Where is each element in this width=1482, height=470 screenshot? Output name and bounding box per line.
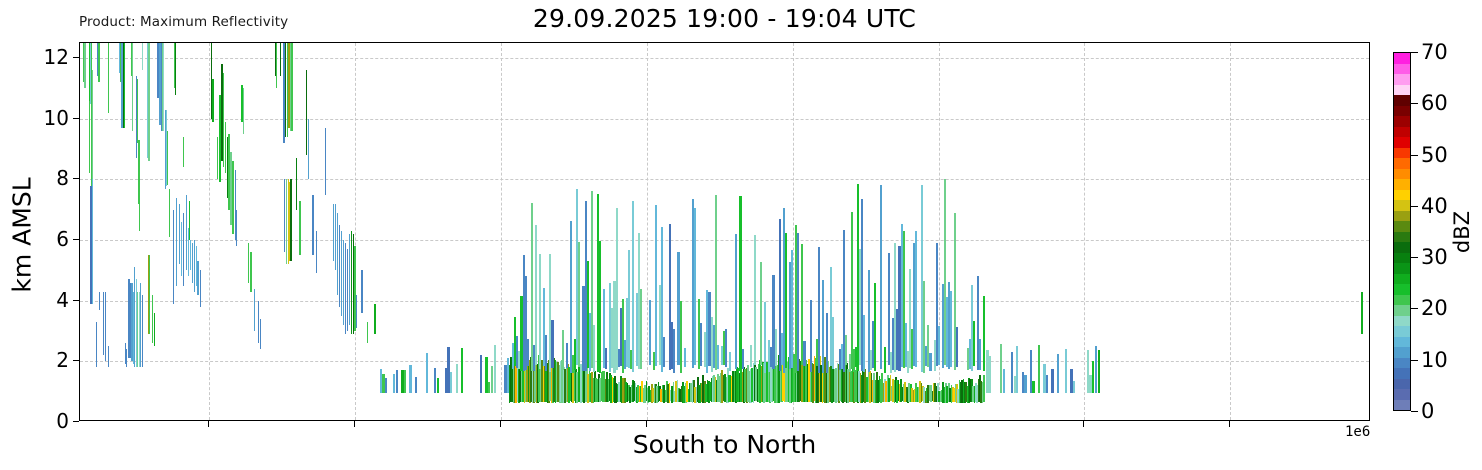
reflectivity-column: [217, 137, 218, 179]
reflectivity-column: [1065, 349, 1067, 393]
colorbar-tick-label: 50: [1421, 143, 1448, 167]
reflectivity-column: [450, 372, 452, 393]
reflectivity-column: [183, 137, 184, 167]
reflectivity-column: [108, 346, 109, 367]
x-tick-mark: [792, 421, 793, 427]
reflectivity-column: [404, 370, 406, 393]
colorbar-tick-mark: [1411, 155, 1418, 156]
reflectivity-column: [535, 225, 537, 365]
colorbar-tick-label: 10: [1421, 348, 1448, 372]
reflectivity-column: [593, 325, 595, 372]
y-tick-label: 8: [56, 166, 69, 190]
x-tick-mark: [208, 421, 209, 427]
reflectivity-column: [236, 210, 237, 246]
reflectivity-column: [822, 280, 824, 373]
reflectivity-column: [694, 208, 696, 365]
reflectivity-column: [260, 319, 261, 349]
reflectivity-column: [832, 317, 834, 370]
reflectivity-column: [1073, 381, 1075, 393]
colorbar-tick-mark: [1411, 308, 1418, 309]
colorbar-segment: [1394, 336, 1410, 347]
reflectivity-column: [92, 179, 93, 303]
colorbar-segment: [1394, 168, 1410, 179]
reflectivity-column: [851, 212, 853, 368]
reflectivity-column: [124, 43, 125, 128]
product-label: Product: Maximum Reflectivity: [79, 14, 288, 30]
reflectivity-column: [181, 222, 182, 277]
reflectivity-column: [142, 295, 143, 368]
reflectivity-column: [874, 283, 876, 371]
reflectivity-column: [680, 301, 682, 373]
reflectivity-column: [132, 43, 133, 131]
colorbar-tick-label: 0: [1421, 399, 1434, 423]
reflectivity-column: [308, 119, 309, 180]
colorbar-tick-label: 30: [1421, 245, 1448, 269]
reflectivity-column: [956, 327, 958, 367]
reflectivity-column: [154, 313, 155, 346]
x-tick-mark: [1229, 421, 1230, 427]
x-axis-offset-label: 1e6: [1345, 424, 1370, 440]
reflectivity-column: [929, 353, 931, 371]
colorbar-segment: [1394, 325, 1410, 336]
reflectivity-column: [950, 291, 952, 367]
reflectivity-column: [884, 347, 886, 372]
reflectivity-column: [616, 208, 618, 369]
reflectivity-column: [126, 349, 127, 367]
colorbar-segment: [1394, 115, 1410, 126]
colorbar-segment: [1394, 273, 1410, 284]
reflectivity-column: [200, 270, 201, 306]
colorbar-segment: [1394, 231, 1410, 242]
reflectivity-column: [599, 241, 601, 373]
y-tick-label: 10: [44, 106, 69, 130]
reflectivity-column: [1057, 354, 1059, 393]
colorbar-segment: [1394, 304, 1410, 315]
y-axis-label: km AMSL: [8, 177, 37, 292]
reflectivity-column: [258, 301, 259, 343]
reflectivity-column: [863, 315, 865, 372]
reflectivity-column: [137, 79, 138, 143]
reflectivity-column: [735, 234, 737, 369]
reflectivity-column: [243, 88, 244, 133]
reflectivity-column: [1051, 369, 1053, 393]
y-tick-label: 0: [56, 409, 69, 433]
colorbar-segment: [1394, 147, 1410, 158]
y-tick-label: 2: [56, 348, 69, 372]
colorbar-segment: [1394, 52, 1410, 63]
reflectivity-column: [189, 201, 190, 240]
colorbar-tick-label: 20: [1421, 296, 1448, 320]
colorbar-segment: [1394, 126, 1410, 137]
y-tick-mark: [73, 421, 79, 422]
reflectivity-column: [570, 221, 572, 373]
x-axis-label: South to North: [79, 430, 1370, 459]
reflectivity-column: [461, 348, 463, 393]
reflectivity-column: [717, 345, 719, 369]
reflectivity-column: [356, 295, 357, 328]
reflectivity-column: [632, 201, 634, 372]
reflectivity-column: [989, 356, 991, 393]
colorbar-segment: [1394, 136, 1410, 147]
colorbar-tick-label: 60: [1421, 91, 1448, 115]
colorbar-segment: [1394, 220, 1410, 231]
colorbar-segment: [1394, 105, 1410, 116]
reflectivity-column: [684, 348, 686, 367]
reflectivity-column: [764, 302, 766, 373]
reflectivity-column: [347, 249, 348, 331]
colorbar-segment: [1394, 178, 1410, 189]
colorbar-segment: [1394, 315, 1410, 326]
colorbar-segment: [1394, 241, 1410, 252]
reflectivity-column: [915, 231, 917, 367]
reflectivity-column: [290, 179, 291, 261]
colorbar-tick-mark: [1411, 411, 1418, 412]
colorbar-segment: [1394, 63, 1410, 74]
reflectivity-column: [426, 353, 428, 393]
reflectivity-column: [725, 329, 727, 368]
reflectivity-column: [325, 128, 326, 195]
reflectivity-column: [437, 378, 439, 393]
colorbar: [1393, 52, 1411, 411]
colorbar-segment: [1394, 94, 1410, 105]
reflectivity-column: [803, 341, 805, 366]
colorbar-segment: [1394, 262, 1410, 273]
reflectivity-column: [655, 205, 657, 366]
reflectivity-column: [845, 335, 847, 365]
reflectivity-column: [248, 243, 249, 282]
reflectivity-column: [415, 377, 417, 393]
colorbar-tick-mark: [1411, 52, 1418, 53]
reflectivity-column: [280, 43, 281, 76]
reflectivity-column: [142, 43, 143, 70]
y-tick-label: 12: [44, 45, 69, 69]
reflectivity-column: [480, 355, 482, 393]
reflectivity-column: [385, 378, 387, 393]
colorbar-title: dBZ: [1450, 211, 1474, 253]
reflectivity-column: [276, 43, 277, 88]
reflectivity-column: [176, 198, 177, 286]
reflectivity-column: [1038, 345, 1040, 394]
reflectivity-column: [1098, 350, 1100, 393]
reflectivity-column: [396, 370, 398, 393]
reflectivity-column: [367, 322, 368, 343]
reflectivity-column: [566, 343, 568, 368]
reflectivity-column: [89, 101, 90, 174]
reflectivity-column: [750, 345, 752, 367]
reflectivity-column: [797, 233, 799, 371]
reflectivity-column: [539, 254, 541, 370]
reflectivity-column: [456, 364, 458, 393]
reflectivity-column: [715, 195, 717, 370]
colorbar-segment: [1394, 378, 1410, 389]
reflectivity-column: [197, 261, 198, 294]
reflectivity-column: [299, 201, 300, 256]
reflectivity-column: [663, 337, 665, 367]
reflectivity-column: [212, 79, 213, 121]
reflectivity-column: [938, 326, 940, 365]
reflectivity-column: [374, 304, 375, 334]
reflectivity-column: [775, 329, 777, 366]
colorbar-segment: [1394, 157, 1410, 168]
reflectivity-column: [98, 43, 99, 82]
reflectivity-column: [250, 252, 251, 291]
reflectivity-column: [167, 131, 168, 186]
reflectivity-column: [148, 43, 149, 161]
reflectivity-column: [139, 152, 140, 231]
reflectivity-column: [99, 292, 100, 310]
reflectivity-column: [754, 235, 756, 366]
reflectivity-column: [232, 161, 233, 234]
reflectivity-column: [312, 195, 313, 256]
x-tick-mark: [1083, 421, 1084, 427]
reflectivity-column: [409, 365, 411, 393]
colorbar-segment: [1394, 73, 1410, 84]
colorbar-segment: [1394, 367, 1410, 378]
reflectivity-column: [527, 339, 529, 365]
reflectivity-column: [551, 320, 553, 368]
colorbar-tick-mark: [1411, 206, 1418, 207]
reflectivity-column: [826, 313, 828, 373]
reflectivity-column: [296, 158, 297, 210]
colorbar-segment: [1394, 252, 1410, 263]
y-tick-label: 4: [56, 288, 69, 312]
reflectivity-column: [254, 289, 255, 331]
reflectivity-column: [173, 210, 174, 304]
x-tick-mark: [354, 421, 355, 427]
reflectivity-column: [562, 330, 564, 370]
reflectivity-column: [578, 242, 580, 367]
reflectivity-column: [880, 185, 882, 369]
reflectivity-column: [169, 189, 170, 238]
reflectivity-column: [983, 375, 985, 402]
reflectivity-column: [983, 296, 985, 371]
colorbar-segment: [1394, 346, 1410, 357]
colorbar-segment: [1394, 388, 1410, 399]
radar-cross-section-figure: 29.09.2025 19:00 - 19:04 UTC Product: Ma…: [0, 0, 1482, 470]
colorbar-segment: [1394, 399, 1410, 410]
colorbar-tick-label: 40: [1421, 194, 1448, 218]
reflectivity-column: [291, 43, 292, 131]
reflectivity-column: [742, 349, 744, 369]
reflectivity-column: [1016, 346, 1018, 393]
reflectivity-column: [791, 250, 793, 368]
reflectivity-column: [175, 43, 176, 95]
reflectivity-column: [818, 247, 820, 374]
reflectivity-column: [605, 348, 607, 369]
colorbar-segment: [1394, 189, 1410, 200]
x-tick-mark: [646, 421, 647, 427]
x-tick-mark: [500, 421, 501, 427]
reflectivity-column: [1003, 369, 1005, 393]
reflectivity-column: [973, 321, 975, 366]
reflectivity-column: [760, 262, 762, 365]
reflectivity-column: [810, 300, 812, 372]
reflectivity-column: [507, 358, 509, 393]
reflectivity-column: [545, 335, 547, 370]
reflectivity-column: [673, 329, 675, 373]
reflectivity-column: [84, 43, 85, 88]
colorbar-tick-mark: [1411, 257, 1418, 258]
reflectivity-column: [183, 213, 184, 286]
reflectivity-column: [640, 289, 642, 370]
colorbar-segment: [1394, 84, 1410, 95]
reflectivity-column: [105, 292, 106, 362]
reflectivity-columns: [80, 43, 1369, 420]
reflectivity-column: [979, 339, 981, 370]
colorbar-segment: [1394, 283, 1410, 294]
reflectivity-column: [785, 233, 787, 368]
reflectivity-column: [361, 270, 362, 312]
colorbar-tick-mark: [1411, 103, 1418, 104]
reflectivity-column: [729, 352, 731, 372]
reflectivity-column: [316, 231, 317, 273]
colorbar-segment: [1394, 294, 1410, 305]
reflectivity-column: [1032, 381, 1034, 393]
reflectivity-column: [1024, 375, 1026, 393]
colorbar-segment: [1394, 210, 1410, 221]
reflectivity-column: [149, 255, 150, 334]
reflectivity-column: [739, 196, 741, 371]
reflectivity-column: [700, 323, 702, 366]
reflectivity-column: [494, 345, 496, 393]
colorbar-tick-label: 70: [1421, 40, 1448, 64]
colorbar-segment: [1394, 357, 1410, 368]
reflectivity-column: [108, 43, 109, 113]
x-tick-mark: [938, 421, 939, 427]
plot-area: [79, 42, 1370, 421]
y-tick-label: 6: [56, 227, 69, 251]
colorbar-segment: [1394, 199, 1410, 210]
reflectivity-column: [1361, 292, 1364, 334]
reflectivity-column: [1046, 375, 1048, 393]
reflectivity-column: [649, 300, 651, 365]
colorbar-tick-mark: [1411, 360, 1418, 361]
reflectivity-column: [96, 322, 97, 367]
reflectivity-column: [888, 253, 890, 365]
